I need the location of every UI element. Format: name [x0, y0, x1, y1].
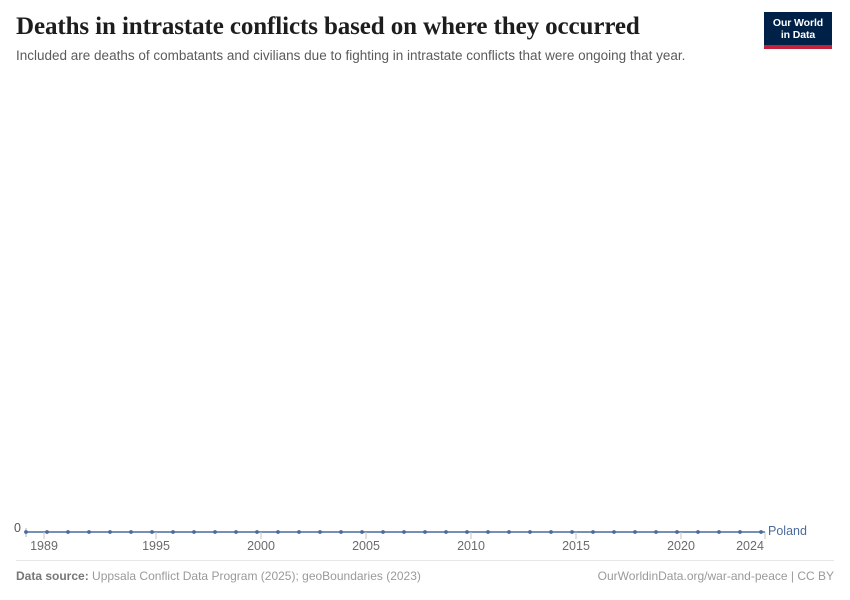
x-tick-label-1995: 1995	[142, 539, 170, 553]
chart-svg	[16, 100, 816, 540]
x-tick-label-2005: 2005	[352, 539, 380, 553]
x-tick-label-2020: 2020	[667, 539, 695, 553]
chart-subtitle: Included are deaths of combatants and ci…	[16, 47, 728, 65]
series-label-poland[interactable]: Poland	[768, 524, 807, 538]
y-axis-tick-0: 0	[14, 521, 21, 535]
x-tick-label-2000: 2000	[247, 539, 275, 553]
page-title: Deaths in intrastate conflicts based on …	[16, 12, 756, 41]
x-tick-label-2024: 2024	[736, 539, 764, 553]
data-source-text: Uppsala Conflict Data Program (2025); ge…	[92, 569, 421, 583]
footer-divider	[16, 560, 834, 561]
logo-line-2: in Data	[764, 29, 832, 45]
data-source-label: Data source:	[16, 569, 89, 583]
attribution-link[interactable]: OurWorldinData.org/war-and-peace | CC BY	[598, 568, 834, 584]
x-tick-label-1989: 1989	[30, 539, 58, 553]
plot-area[interactable]	[16, 100, 816, 532]
chart-header: Deaths in intrastate conflicts based on …	[16, 12, 756, 65]
logo-line-1: Our World	[764, 17, 832, 29]
x-tick-label-2010: 2010	[457, 539, 485, 553]
owid-logo[interactable]: Our World in Data	[764, 12, 832, 49]
x-tick-label-2015: 2015	[562, 539, 590, 553]
data-source: Data source: Uppsala Conflict Data Progr…	[16, 568, 421, 584]
owid-chart: Deaths in intrastate conflicts based on …	[0, 0, 850, 600]
chart-footer: Data source: Uppsala Conflict Data Progr…	[16, 568, 834, 588]
